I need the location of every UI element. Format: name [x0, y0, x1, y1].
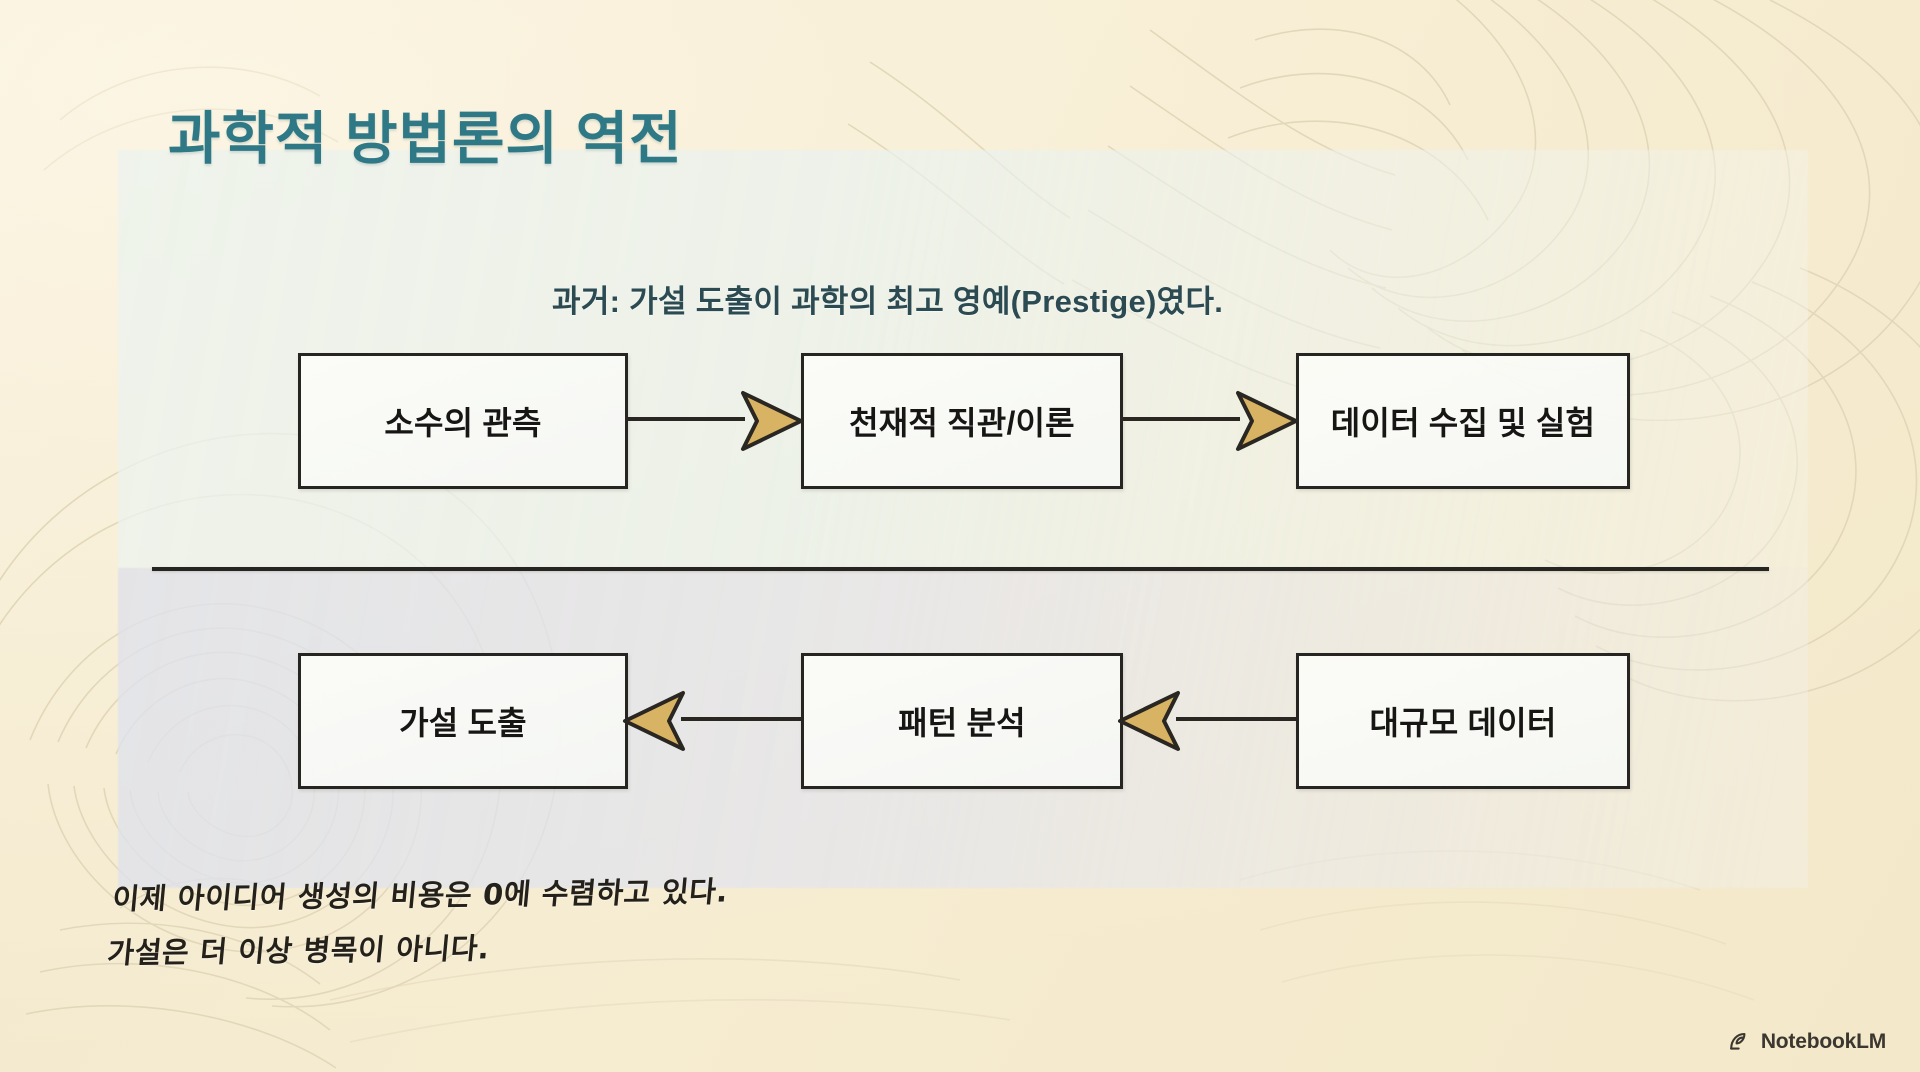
flow-node-past-2-label: 천재적 직관/이론	[849, 398, 1075, 444]
flow-node-present-2-label: 패턴 분석	[898, 698, 1026, 744]
flow-row-past: 소수의 관측 천재적 직관/이론 데이터 수집 및 실험	[0, 353, 1920, 489]
section-divider	[152, 567, 1769, 571]
flow-node-past-2: 천재적 직관/이론	[801, 353, 1123, 489]
flow-node-past-3: 데이터 수집 및 실험	[1296, 353, 1630, 489]
handwritten-note-line-2: 가설은 더 이상 병목이 아니다.	[105, 918, 726, 980]
notebooklm-watermark: NotebookLM	[1728, 1030, 1886, 1054]
notebooklm-watermark-label: NotebookLM	[1761, 1030, 1886, 1054]
handwritten-note-line-1: 이제 아이디어 생성의 비용은 0에 수렴하고 있다.	[110, 864, 731, 926]
flow-arrow-left-present-1	[625, 653, 801, 789]
flow-node-past-1-label: 소수의 관측	[384, 398, 541, 444]
flow-node-present-2: 패턴 분석	[801, 653, 1123, 789]
flow-node-present-1: 가설 도출	[298, 653, 628, 789]
flow-node-present-3: 대규모 데이터	[1296, 653, 1630, 789]
flow-node-present-3-label: 대규모 데이터	[1370, 698, 1557, 744]
flow-row-present: 가설 도출 패턴 분석 대규모 데이터	[0, 653, 1920, 789]
flow-node-past-3-label: 데이터 수집 및 실험	[1331, 398, 1595, 444]
flow-node-past-1: 소수의 관측	[298, 353, 628, 489]
handwritten-note: 이제 아이디어 생성의 비용은 0에 수렴하고 있다. 가설은 더 이상 병목이…	[105, 864, 731, 980]
notebooklm-spiral-icon	[1728, 1030, 1752, 1054]
page-title: 과학적 방법론의 역전	[168, 93, 683, 175]
past-section-caption: 과거: 가설 도출이 과학의 최고 영예(Prestige)였다.	[552, 276, 1223, 321]
flow-arrow-right-past-2	[1120, 353, 1296, 489]
presentation-slide: 과학적 방법론의 역전 과거: 가설 도출이 과학의 최고 영예(Prestig…	[0, 0, 1920, 1072]
flow-node-present-1-label: 가설 도출	[399, 698, 527, 744]
flow-arrow-left-present-2	[1120, 653, 1296, 789]
flow-arrow-right-past-1	[625, 353, 801, 489]
